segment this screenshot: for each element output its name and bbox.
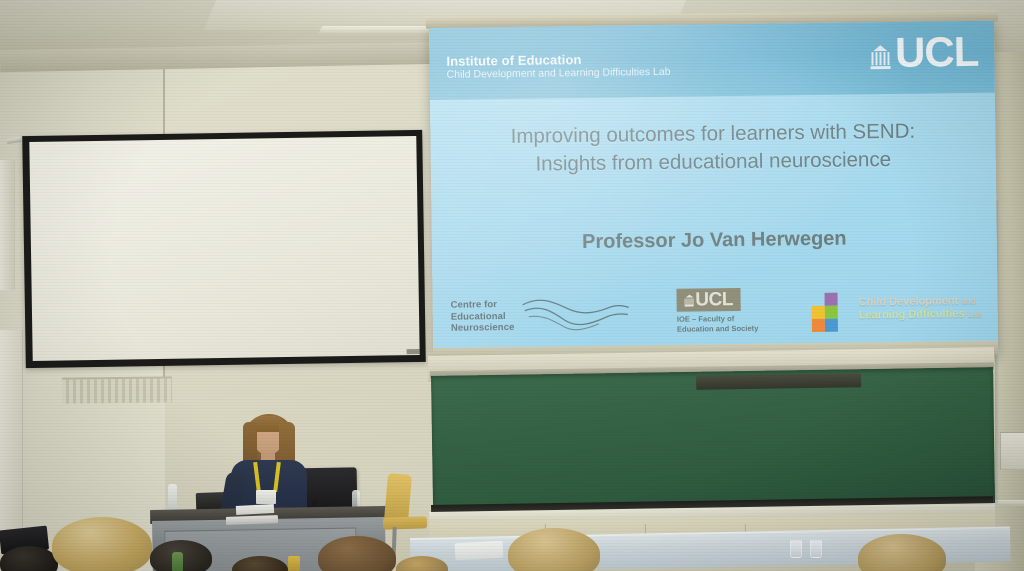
whiteboard-tag [407, 349, 420, 354]
projection-screen: Institute of Education Child Development… [429, 21, 998, 362]
wall-shelf [998, 500, 1024, 506]
chalkboard [431, 367, 995, 512]
ucl-logo-text: UCL [895, 35, 979, 71]
bench-papers [455, 541, 504, 560]
ucl-ioe-logo: UCL IOE – Faculty of Education and Socie… [664, 285, 785, 341]
whiteboard [22, 130, 426, 368]
ucl-ioe-caption: IOE – Faculty of Education and Society [677, 314, 759, 335]
audience-head [508, 528, 600, 571]
ucl-logo: UCL [870, 35, 979, 71]
cdld-logo: Child Development and Learning Difficult… [810, 285, 996, 337]
whiteboard-surface [29, 136, 419, 361]
slide-footer-logos: Centre for Educational Neuroscience UCL [432, 283, 998, 344]
chair-seat [383, 516, 427, 530]
colored-blocks-icon [811, 292, 853, 329]
bench-glass [790, 540, 802, 558]
chalkboard-slider-handle [696, 373, 861, 390]
slide-title: Improving outcomes for learners with SEN… [430, 117, 996, 181]
block-orange [812, 319, 825, 332]
cdld-line1-small: and [961, 297, 975, 306]
cen-logo-text: Centre for Educational Neuroscience [451, 299, 515, 335]
cen-logo: Centre for Educational Neuroscience [451, 293, 632, 341]
block-purple [825, 293, 838, 306]
radiator [62, 376, 172, 403]
door-edge [0, 330, 23, 530]
block-green [825, 306, 838, 319]
ucl-ioe-logo-mark: UCL [676, 288, 740, 312]
slide-institute-label: Institute of Education [446, 52, 581, 69]
slide-lab-label: Child Development and Learning Difficult… [447, 66, 671, 81]
ucl-portico-icon [684, 294, 693, 306]
water-bottle [168, 484, 177, 512]
ucl-ioe-logo-text: UCL [695, 290, 733, 309]
block-blue [825, 319, 838, 332]
audience-bottle [172, 552, 183, 571]
audience-head [52, 517, 152, 571]
cdld-line2-small: Lab [968, 310, 982, 319]
ucl-portico-icon [870, 44, 890, 70]
audience-cup [288, 556, 300, 571]
left-wall-panel [0, 160, 15, 290]
brainwave-icon [521, 293, 632, 338]
block-yellow [812, 306, 825, 319]
wall-box [1000, 432, 1024, 470]
lecture-hall-screenshot: Institute of Education Child Development… [0, 0, 1024, 571]
cdld-line2-main: Learning Difficulties [859, 308, 965, 321]
slide-header-band: Institute of Education Child Development… [429, 21, 995, 100]
chair-back [384, 473, 412, 523]
presentation-slide: Institute of Education Child Development… [429, 21, 998, 362]
presenter-name-badge [256, 490, 276, 504]
bench-glass [810, 540, 822, 558]
cdld-line1-main: Child Development [859, 295, 959, 308]
slide-presenter-name: Professor Jo Van Herwegen [432, 226, 997, 256]
cdld-logo-text: Child Development and Learning Difficult… [859, 295, 982, 323]
